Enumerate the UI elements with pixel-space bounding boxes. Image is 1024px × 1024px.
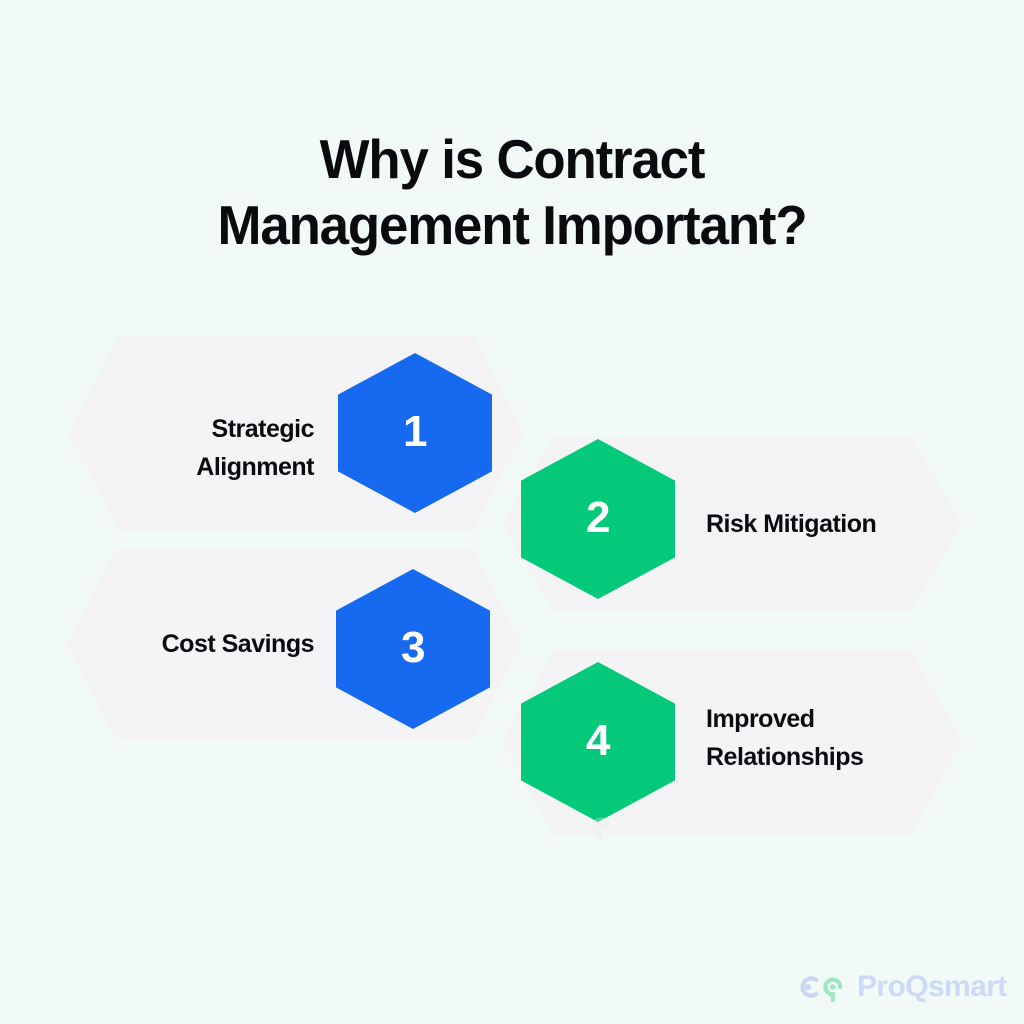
benefit-card-2[interactable]: 2 Risk Mitigation [502, 437, 962, 611]
spiral-ring-icon [825, 980, 840, 1001]
card-number: 4 [586, 719, 610, 763]
card-label: Risk Mitigation [706, 505, 956, 543]
ring-dot-icon [803, 978, 817, 995]
card-label: Strategic Alignment [94, 410, 314, 486]
card-number: 1 [403, 410, 427, 454]
card-number: 3 [401, 626, 425, 670]
brand-mark-icon [796, 972, 848, 1002]
brand-logo: ProQsmart [796, 972, 1007, 1002]
card-label: Cost Savings [74, 625, 314, 663]
benefit-card-1[interactable]: Strategic Alignment 1 [68, 336, 524, 530]
card-label: Improved Relationships [706, 700, 956, 776]
brand-name: ProQsmart [857, 972, 1007, 1002]
benefit-card-4[interactable]: 4 Improved Relationships [502, 650, 962, 834]
card-number: 2 [586, 496, 610, 540]
benefit-card-3[interactable]: Cost Savings 3 [66, 547, 522, 741]
infographic-canvas: Why is Contract Management Important? St… [0, 0, 1024, 1024]
benefit-card-list: Strategic Alignment 1 2 Risk Mitigation … [0, 0, 1024, 1024]
